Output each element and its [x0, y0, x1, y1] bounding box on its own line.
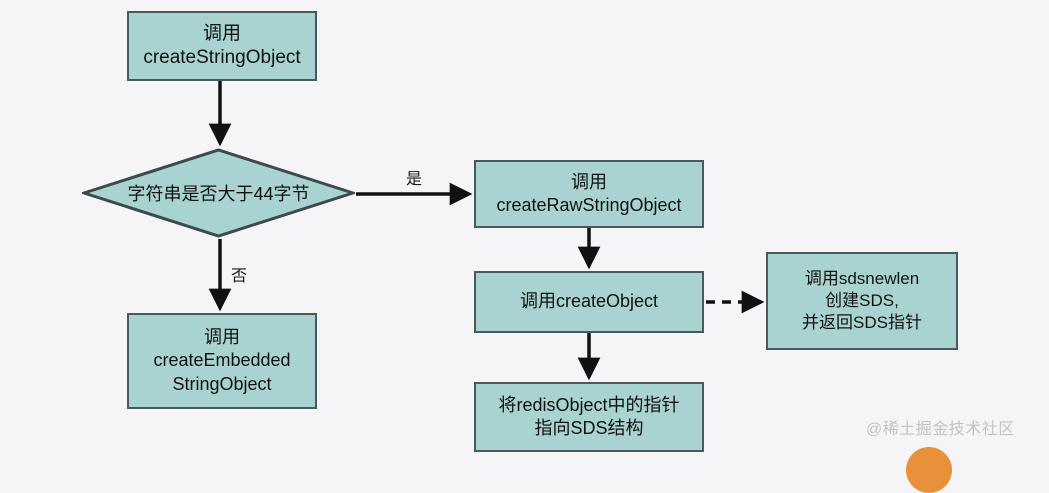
node-create-embedded-string-object[interactable]: 调用 createEmbedded StringObject: [127, 313, 317, 409]
edge-label-yes: 是: [406, 165, 422, 189]
watermark: @稀土掘金技术社区: [866, 415, 1015, 439]
node-point-redisobject-to-sds[interactable]: 将redisObject中的指针 指向SDS结构: [474, 382, 704, 452]
node-line: 调用: [203, 22, 241, 46]
node-line: 调用: [571, 171, 607, 194]
node-create-raw-string-object[interactable]: 调用 createRawStringObject: [474, 160, 704, 228]
node-create-object[interactable]: 调用createObject: [474, 271, 704, 333]
node-line: 调用: [204, 326, 240, 349]
node-line: 创建SDS,: [825, 290, 899, 312]
node-line: 将redisObject中的指针: [498, 394, 679, 417]
node-line: createRawStringObject: [496, 194, 681, 217]
node-decision-label: 字符串是否大于44字节: [82, 148, 355, 238]
node-line: createStringObject: [143, 46, 300, 70]
flowchart-canvas: 调用 createStringObject 字符串是否大于44字节 是 否 调用…: [0, 0, 1049, 459]
node-create-string-object[interactable]: 调用 createStringObject: [127, 11, 317, 81]
node-sdsnewlen-create-sds[interactable]: 调用sdsnewlen 创建SDS, 并返回SDS指针: [766, 252, 958, 350]
node-line: 调用sdsnewlen: [805, 268, 919, 290]
node-line: createEmbedded: [153, 349, 290, 372]
node-decision-string-length[interactable]: 字符串是否大于44字节: [82, 148, 355, 238]
node-line: 调用createObject: [520, 290, 658, 313]
node-line: 指向SDS结构: [534, 417, 643, 440]
edge-label-no: 否: [231, 262, 247, 286]
node-line: StringObject: [172, 373, 271, 396]
decorative-orange-circle: [906, 447, 952, 493]
node-line: 并返回SDS指针: [802, 312, 922, 334]
